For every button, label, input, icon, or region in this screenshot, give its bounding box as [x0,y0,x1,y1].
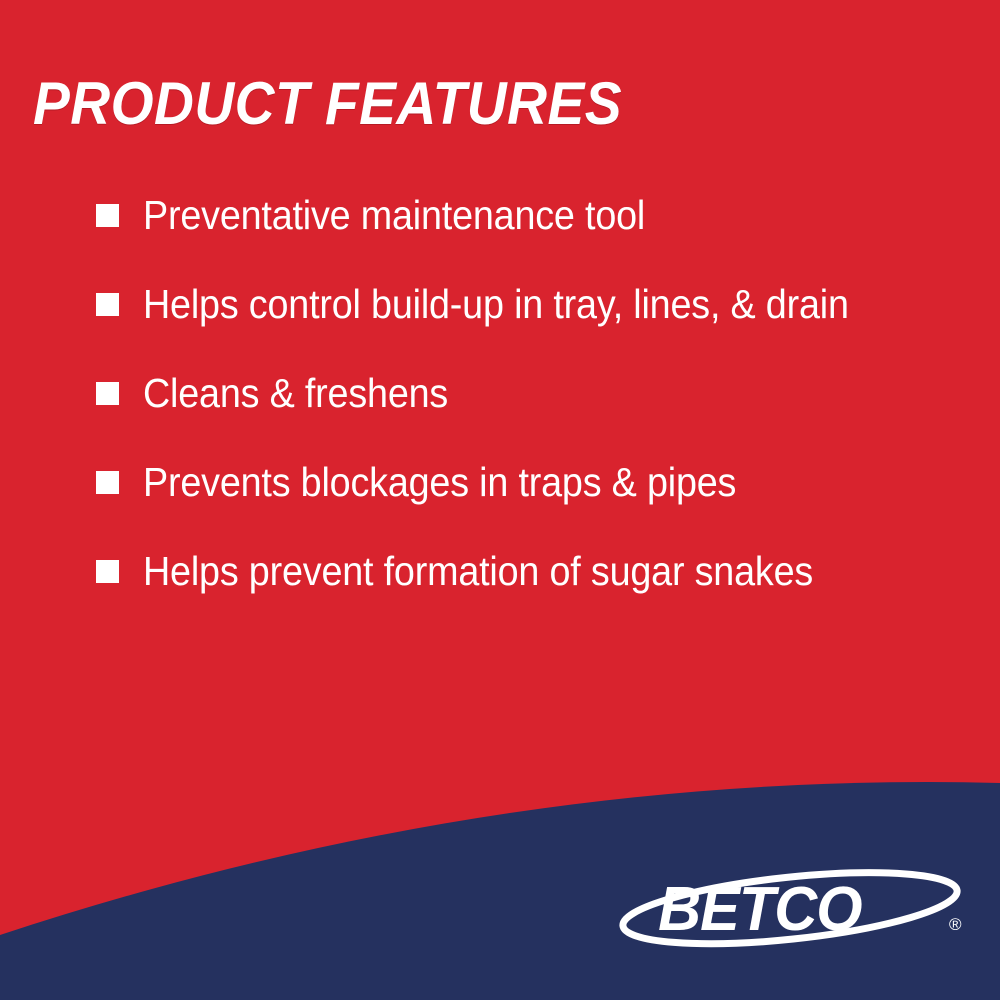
product-features-graphic: PRODUCT FEATURES Preventative maintenanc… [0,0,1000,1000]
list-item: Cleans & freshens [96,348,956,437]
feature-label: Helps prevent formation of sugar snakes [143,549,813,593]
list-item: Prevents blockages in traps & pipes [96,437,956,526]
square-bullet-icon [96,293,119,316]
feature-label: Prevents blockages in traps & pipes [143,460,736,504]
list-item: Preventative maintenance tool [96,170,956,259]
feature-label: Cleans & freshens [143,371,448,415]
list-item: Helps control build-up in tray, lines, &… [96,259,956,348]
page-title: PRODUCT FEATURES [33,72,622,136]
registered-trademark-icon: ® [949,915,962,934]
square-bullet-icon [96,382,119,405]
square-bullet-icon [96,204,119,227]
logo-wordmark: BETCO [658,874,862,943]
betco-logo: BETCO ® [612,862,972,954]
feature-label: Preventative maintenance tool [143,193,645,237]
feature-list: Preventative maintenance tool Helps cont… [96,170,956,615]
square-bullet-icon [96,471,119,494]
feature-label: Helps control build-up in tray, lines, &… [143,282,849,326]
list-item: Helps prevent formation of sugar snakes [96,526,956,615]
betco-logo-svg: BETCO ® [612,862,972,954]
square-bullet-icon [96,560,119,583]
